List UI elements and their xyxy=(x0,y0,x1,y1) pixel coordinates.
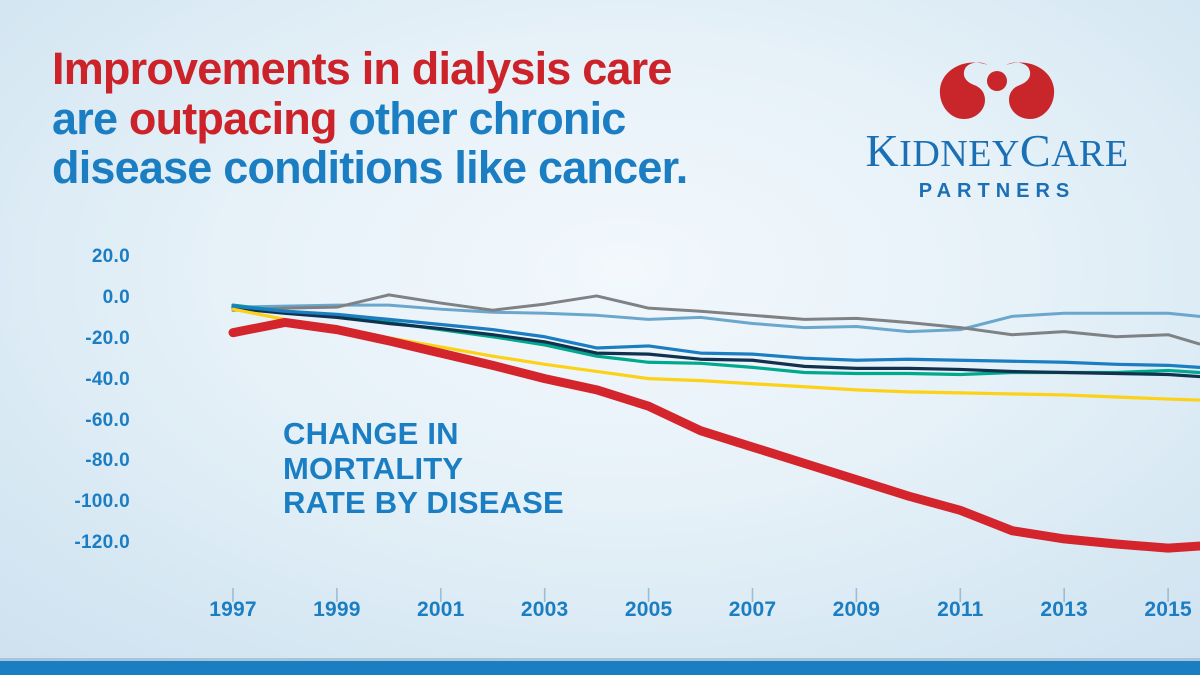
page-title: Improvements in dialysis care are outpac… xyxy=(52,44,852,193)
logo-wordmark: KIDNEYCARE xyxy=(838,128,1156,174)
mortality-line-chart xyxy=(0,230,1200,630)
headline-line-2-emphasis: outpacing xyxy=(129,93,337,144)
x-axis-tick-label: 2015 xyxy=(1144,598,1192,622)
logo-idney: IDNEY xyxy=(899,133,1020,175)
headline-line-2: are outpacing other chronic xyxy=(52,94,852,144)
chart-caption-line-2: MORTALITY xyxy=(283,452,564,487)
headline-line-1: Improvements in dialysis care xyxy=(52,44,852,94)
footer-bar xyxy=(0,661,1200,675)
x-axis-tick-label: 2011 xyxy=(937,598,983,622)
chart-caption: CHANGE IN MORTALITY RATE BY DISEASE xyxy=(283,417,564,521)
x-axis-tick-label: 2013 xyxy=(1040,598,1088,622)
chart-caption-line-3: RATE BY DISEASE xyxy=(283,486,564,521)
chart-plot-area xyxy=(0,230,1200,630)
x-axis-tick-label: 2005 xyxy=(625,598,673,622)
headline-line-2-prefix: are xyxy=(52,93,129,144)
x-axis-tick-label: 1997 xyxy=(209,598,257,622)
brand-logo: KIDNEYCARE PARTNERS xyxy=(838,58,1156,198)
chart-caption-line-1: CHANGE IN xyxy=(283,417,564,452)
headline-line-3: disease conditions like cancer. xyxy=(52,143,852,193)
headline-line-3-text: disease conditions like cancer. xyxy=(52,142,688,193)
kidney-care-partners-mark-icon xyxy=(838,58,1156,124)
logo-k: K xyxy=(865,125,899,176)
logo-are: ARE xyxy=(1051,133,1129,175)
headline-line-1-text: Improvements in dialysis care xyxy=(52,43,672,94)
logo-subtitle: PARTNERS xyxy=(838,180,1156,203)
x-axis-tick-label: 2009 xyxy=(833,598,881,622)
logo-c: C xyxy=(1020,125,1051,176)
x-axis-tick-label: 2001 xyxy=(417,598,465,622)
x-axis-tick-label: 2003 xyxy=(521,598,569,622)
infographic-canvas: Improvements in dialysis care are outpac… xyxy=(0,0,1200,675)
headline-line-2-suffix: other chronic xyxy=(337,93,626,144)
x-axis-tick-label: 2007 xyxy=(729,598,777,622)
x-axis-tick-label: 1999 xyxy=(313,598,361,622)
x-axis-tick-labels: 1997199920012003200520072009201120132015 xyxy=(0,598,1200,632)
